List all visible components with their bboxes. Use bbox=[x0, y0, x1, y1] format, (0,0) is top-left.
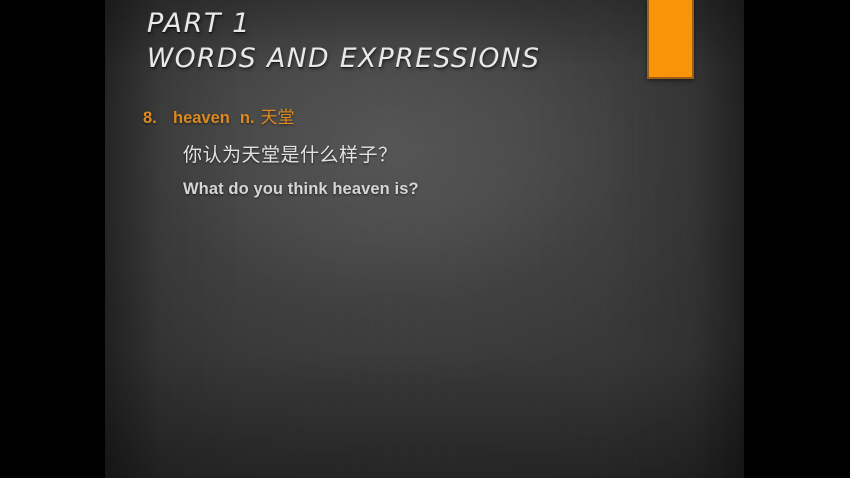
example-sentence-chinese: 你认为天堂是什么样子？ bbox=[183, 140, 419, 167]
entry-part-of-speech: n. bbox=[240, 109, 255, 128]
entry-headword-row: 8. heaven n. 天堂 bbox=[143, 103, 419, 128]
entry-word: heaven bbox=[173, 109, 230, 128]
orange-rectangle-accent bbox=[647, 0, 694, 79]
entry-chinese-gloss: 天堂 bbox=[261, 103, 295, 128]
letterbox-bar-left bbox=[0, 0, 105, 478]
letterbox-bar-right bbox=[744, 0, 850, 478]
slide-title: PART 1 WORDS AND EXPRESSIONS bbox=[147, 6, 540, 76]
title-line-part: PART 1 bbox=[147, 6, 540, 41]
example-sentence-english: What do you think heaven is? bbox=[183, 180, 419, 199]
video-player-frame: PART 1 WORDS AND EXPRESSIONS 8. heaven n… bbox=[0, 0, 850, 478]
presentation-slide: PART 1 WORDS AND EXPRESSIONS 8. heaven n… bbox=[105, 0, 744, 478]
entry-number: 8. bbox=[143, 109, 173, 128]
title-line-subject: WORDS AND EXPRESSIONS bbox=[147, 41, 540, 76]
vocabulary-entry: 8. heaven n. 天堂 你认为天堂是什么样子？ What do you … bbox=[143, 103, 419, 199]
